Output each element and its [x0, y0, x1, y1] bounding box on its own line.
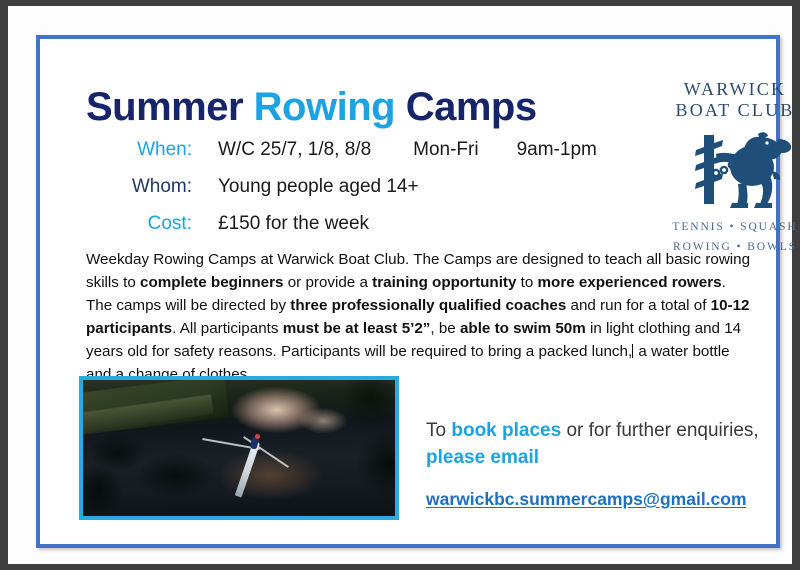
title-part-rowing: Rowing — [254, 85, 406, 129]
email-link[interactable]: warwickbc.summercamps@gmail.com — [426, 487, 747, 512]
rowing-photo — [79, 376, 399, 520]
detail-row-whom: Whom: Young people aged 14+ — [86, 176, 646, 213]
body-segment-5: more experienced rowers — [538, 274, 722, 291]
page-title: Summer Rowing Camps — [86, 85, 537, 130]
body-segment-1: complete beginners — [140, 274, 283, 291]
detail-value-cost: £150 for the week — [218, 213, 369, 235]
body-segment-12: , be — [430, 320, 460, 337]
body-segment-8: and run for a total of — [566, 297, 710, 314]
body-segment-7: three professionally qualified coaches — [290, 297, 566, 314]
logo-wordmark-line-2: BOAT CLUB — [660, 100, 800, 121]
detail-when-times: 9am-1pm — [517, 139, 597, 160]
body-segment-2: or provide a — [284, 274, 373, 291]
body-segment-4: to — [516, 274, 537, 291]
document-page: Summer Rowing Camps When: W/C 25/7, 1/8,… — [8, 6, 792, 564]
body-segment-13: able to swim 50m — [460, 320, 586, 337]
detail-label-when: When: — [86, 139, 218, 161]
contact-segment-2: or for further enquiries, — [561, 420, 758, 441]
detail-when-dates: W/C 25/7, 1/8, 8/8 — [218, 139, 371, 160]
detail-row-cost: Cost: £150 for the week — [86, 213, 646, 250]
body-segment-10: . All participants — [172, 320, 283, 337]
contact-segment-3: please email — [426, 447, 539, 468]
body-segment-3: training opportunity — [372, 274, 516, 291]
detail-when-days: Mon-Fri — [413, 139, 478, 160]
detail-row-when: When: W/C 25/7, 1/8, 8/8Mon-Fri9am-1pm — [86, 139, 646, 176]
body-paragraph[interactable]: Weekday Rowing Camps at Warwick Boat Clu… — [86, 248, 754, 387]
logo-sports-line-2: ROWING • BOWLS — [660, 240, 800, 256]
logo-wordmark-line-1: WARWICK — [660, 79, 800, 100]
contact-line: To book places or for further enquiries,… — [426, 420, 759, 468]
photo-rower-head — [255, 434, 260, 439]
detail-value-whom: Young people aged 14+ — [218, 176, 419, 198]
photo-river-scene — [83, 380, 395, 516]
warwick-boat-club-logo: WARWICK BOAT CLUB — [660, 79, 800, 251]
logo-sports-line-1: TENNIS • SQUASH — [660, 220, 800, 236]
bear-and-ragged-staff-icon — [660, 125, 800, 211]
title-part-camps: Camps — [406, 85, 537, 129]
camp-details: When: W/C 25/7, 1/8, 8/8Mon-Fri9am-1pm W… — [86, 139, 646, 250]
title-part-summer: Summer — [86, 85, 254, 129]
contact-segment-1: book places — [451, 420, 561, 441]
page-border-frame: Summer Rowing Camps When: W/C 25/7, 1/8,… — [36, 35, 780, 548]
detail-label-cost: Cost: — [86, 213, 218, 235]
detail-label-whom: Whom: — [86, 176, 218, 198]
contact-segment-0: To — [426, 420, 451, 441]
contact-block: To book places or for further enquiries,… — [426, 417, 766, 513]
photo-tree-reflection-right — [270, 380, 395, 516]
detail-value-when: W/C 25/7, 1/8, 8/8Mon-Fri9am-1pm — [218, 139, 597, 161]
body-segment-11: must be at least 5’2” — [283, 320, 431, 337]
